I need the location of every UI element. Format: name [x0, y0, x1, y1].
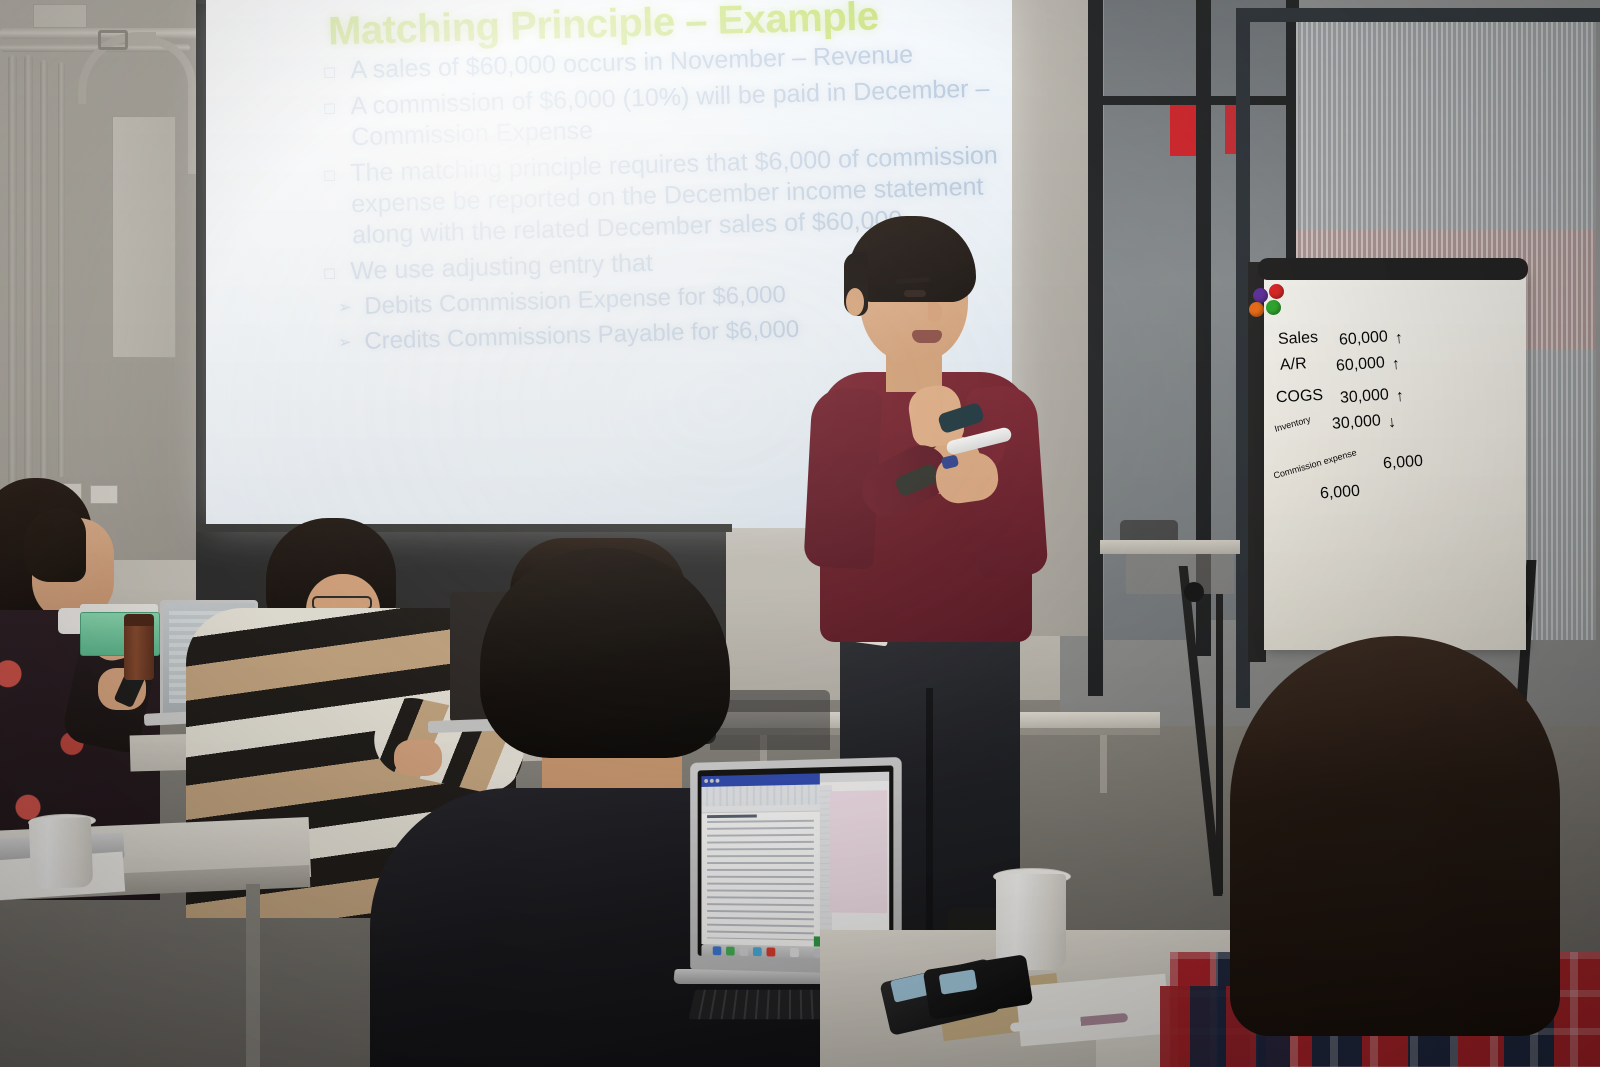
instructor-ear — [846, 288, 864, 316]
whiteboard-arrow-up-icon: ↑ — [1394, 330, 1403, 349]
student-hair — [1230, 636, 1560, 1036]
wall-conduit — [58, 62, 65, 477]
whiteboard-row-value: 30,000 — [1331, 412, 1381, 433]
student-hair — [480, 548, 730, 758]
window-mullion — [1088, 96, 1300, 105]
document-text-lines — [707, 820, 814, 941]
whiteboard-row-label: A/R — [1280, 355, 1308, 374]
document-ruler — [701, 805, 821, 814]
background-table — [1100, 540, 1240, 554]
dock-app-icon[interactable] — [726, 947, 735, 956]
wall-conduit — [8, 55, 17, 485]
whiteboard-row-value: 6,000 — [1382, 453, 1423, 474]
magnet-purple-icon — [1253, 288, 1268, 303]
instructor-eye — [904, 290, 926, 297]
whiteboard-arrow-down-icon: ↓ — [1387, 414, 1396, 433]
magnet-red-icon — [1269, 284, 1284, 299]
bullet-square-icon: □ — [324, 55, 351, 83]
whiteboard-row-label: Commission expense — [1272, 447, 1358, 481]
dock-app-icon[interactable] — [739, 947, 748, 956]
whiteboard-row-value: 6,000 — [1319, 483, 1360, 504]
whiteboard-row: 6,000 — [1320, 484, 1360, 502]
thermos-cap — [124, 614, 154, 626]
whiteboard-row-label: Inventory — [1273, 414, 1311, 434]
dock-app-icon[interactable] — [767, 947, 776, 956]
conduit-box — [33, 4, 87, 28]
whiteboard-row-value: 30,000 — [1340, 386, 1390, 407]
whiteboard-row: A/R 60,000 ↑ — [1280, 356, 1400, 374]
dock-finder-icon[interactable] — [713, 946, 722, 955]
whiteboard-row: Inventory 30,000 ↓ — [1274, 414, 1396, 432]
left-wall — [0, 0, 215, 560]
table-leg — [1100, 735, 1107, 793]
bullet-square-icon: □ — [324, 256, 351, 284]
wall-panel — [112, 116, 176, 358]
document-window[interactable] — [701, 773, 821, 946]
paper-cup — [29, 817, 93, 889]
bullet-square-icon: □ — [324, 158, 351, 186]
classroom-photo: Matching Principle – Example □ A sales o… — [0, 0, 1600, 1067]
whiteboard-row-label: Sales — [1278, 329, 1319, 349]
dock-app-icon[interactable] — [790, 948, 799, 957]
instructor-nose — [928, 302, 942, 322]
whiteboard-row: COGS 30,000 ↑ — [1276, 388, 1404, 406]
instructor-leg-gap — [926, 688, 933, 932]
paper-cup — [996, 874, 1066, 970]
door-frame-top — [1248, 8, 1600, 22]
flipchart-knob — [1184, 582, 1204, 602]
student-right-plaid — [1180, 636, 1600, 1067]
wall-conduit — [24, 55, 33, 485]
bullet-square-icon: □ — [324, 91, 351, 119]
spreadsheet-highlight-region — [830, 790, 887, 913]
flipchart-top-clamp — [1258, 258, 1528, 280]
window-controls-icon[interactable] — [704, 779, 708, 783]
whiteboard-row: Commission expense 6,000 — [1272, 438, 1423, 472]
wall-conduit — [40, 60, 48, 480]
desk-leg — [246, 884, 260, 1067]
magnet-orange-icon — [1249, 302, 1264, 317]
whiteboard-arrow-up-icon: ↑ — [1395, 388, 1404, 407]
document-heading — [707, 814, 757, 818]
bullet-arrow-icon: ➢ — [338, 292, 365, 319]
spreadsheet-window[interactable] — [820, 772, 889, 948]
magnet-green-icon — [1266, 300, 1281, 315]
bullet-text: A commission of $6,000 (10%) will be pai… — [350, 72, 1012, 153]
whiteboard-row: Sales 60,000 ↑ — [1278, 330, 1403, 348]
pipe-clamp — [98, 30, 128, 50]
thermos — [124, 622, 154, 680]
whiteboard-row-value: 60,000 — [1335, 354, 1385, 375]
flipchart-whiteboard: Nov Dec Sales 60,000 ↑ A/R 60,000 ↑ COGS… — [1264, 272, 1526, 650]
whiteboard-row-label: COGS — [1276, 387, 1324, 407]
dock-browser-icon[interactable] — [753, 947, 762, 956]
instructor-mouth — [912, 330, 942, 343]
spreadsheet-toolbar[interactable] — [820, 772, 889, 783]
student-hair-front — [24, 508, 86, 582]
whiteboard-row-value: 60,000 — [1338, 328, 1388, 349]
whiteboard-arrow-up-icon: ↑ — [1391, 356, 1400, 375]
bullet-arrow-icon: ➢ — [338, 327, 365, 354]
